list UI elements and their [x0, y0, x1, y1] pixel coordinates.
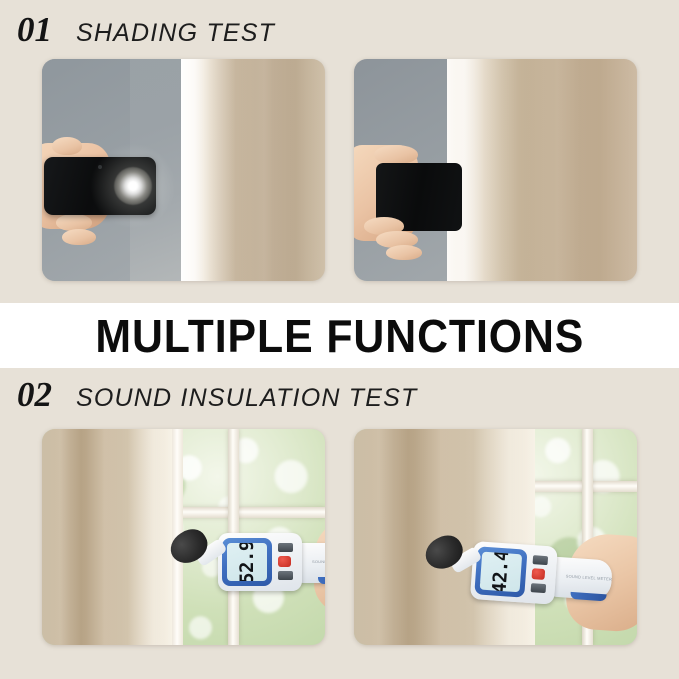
meter-bezel: 52.9 dB	[222, 538, 272, 586]
banner-multiple-functions: MULTIPLE FUNCTIONS	[0, 303, 679, 368]
meter-button[interactable]	[278, 543, 293, 552]
curtain-fabric	[447, 59, 637, 281]
section-number: 02	[17, 377, 52, 412]
curtain-fabric	[181, 59, 325, 281]
finger	[374, 145, 418, 164]
meter-button[interactable]	[533, 555, 549, 565]
panel-content: SOUND LEVEL METER 42.4 dB	[354, 429, 637, 645]
meter-unit: dB	[480, 581, 483, 588]
meter-button[interactable]	[278, 571, 293, 580]
banner-title: MULTIPLE FUNCTIONS	[95, 313, 584, 359]
finger	[62, 229, 96, 245]
curtain-sheen	[447, 59, 637, 281]
meter-bezel: 42.4 dB	[474, 546, 527, 597]
section-number: 01	[17, 12, 52, 47]
curtain-sheen	[181, 59, 325, 281]
meter-lcd-screen: 42.4 dB	[480, 552, 523, 593]
finger	[52, 137, 82, 155]
meter-body: 42.4 dB	[470, 541, 558, 605]
panel-content	[354, 59, 637, 281]
meter-body: 52.9 dB	[218, 533, 302, 591]
finger	[386, 245, 422, 260]
meter-lcd-screen: 52.9 dB	[227, 543, 267, 581]
photo-panel-shading-blocked	[354, 59, 637, 281]
curtain-folds	[42, 429, 172, 645]
infographic-page: 01 SHADING TEST	[0, 0, 679, 679]
meter-brand-label: SOUND LEVEL METER	[566, 573, 613, 581]
meter-reading: 52.9	[236, 543, 258, 581]
curtain-fabric	[42, 429, 172, 645]
panel-content: SOUND LEVEL METER 52.9 dB	[42, 429, 325, 645]
meter-power-button[interactable]	[278, 556, 291, 567]
section-title: SHADING TEST	[76, 21, 275, 46]
meter-button[interactable]	[531, 583, 547, 593]
flashlight-beam	[114, 167, 152, 205]
meter-reading: 42.4	[488, 552, 513, 593]
handle-accent	[318, 577, 325, 584]
meter-brand-label: SOUND LEVEL METER	[312, 559, 325, 564]
meter-power-button[interactable]	[531, 568, 545, 580]
photo-panel-sound-open: SOUND LEVEL METER 52.9 dB	[42, 429, 325, 645]
panel-content	[42, 59, 325, 281]
section-header-02: 02 SOUND INSULATION TEST	[17, 377, 417, 412]
meter-handle: SOUND LEVEL METER	[548, 556, 613, 600]
photo-panel-shading-open	[42, 59, 325, 281]
meter-unit: dB	[227, 572, 229, 579]
section-header-01: 01 SHADING TEST	[17, 12, 275, 47]
photo-panel-sound-blocked: SOUND LEVEL METER 42.4 dB	[354, 429, 637, 645]
section-title: SOUND INSULATION TEST	[76, 386, 417, 411]
